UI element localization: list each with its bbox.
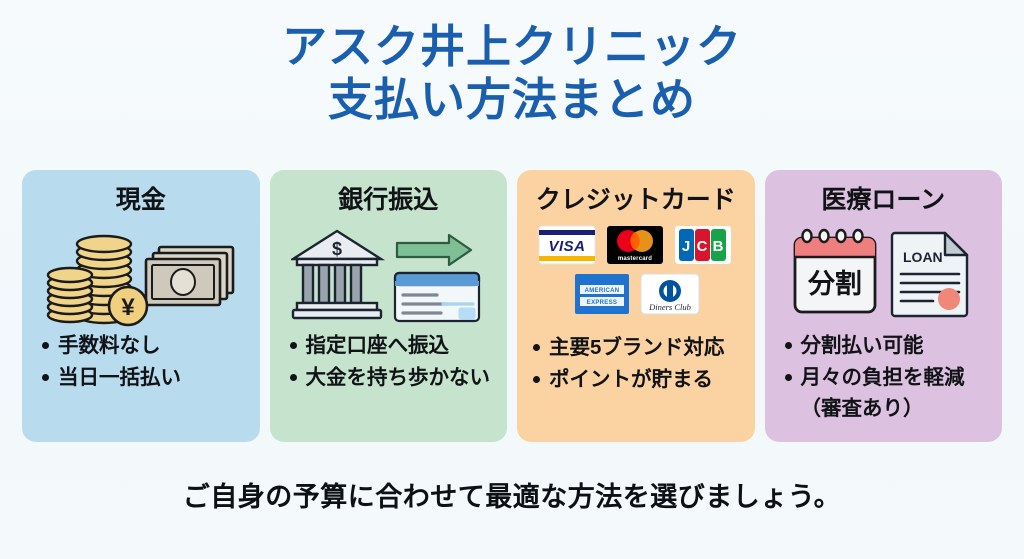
list-item: 指定口座へ振込 <box>284 330 508 362</box>
card-medical-loan-title: 医療ローン <box>821 180 945 216</box>
transfer-arrow-icon <box>397 235 471 265</box>
card-medical-loan[interactable]: 医療ローン <box>765 170 1003 442</box>
title-line-2: 支払い方法まとめ <box>0 73 1024 126</box>
svg-text:Diners Club: Diners Club <box>648 302 691 312</box>
cash-coins-banknotes-icon: ¥ <box>22 220 260 330</box>
calendar-installment-text: 分割 <box>807 269 862 299</box>
footer-note: ご自身の予算に合わせて最適な方法を選びましょう。 <box>0 475 1024 514</box>
installment-calendar-loan-document-icon: 分割 LOAN <box>765 220 1003 330</box>
card-cash[interactable]: 現金 <box>22 170 260 442</box>
bullet-text: 手数料なし <box>58 330 161 362</box>
card-cash-bullets: 手数料なし 当日一括払い <box>22 330 260 394</box>
bullet-dot <box>533 344 540 351</box>
card-credit-card-bullets: 主要5ブランド対応 ポイントが貯まる <box>517 332 755 396</box>
bullet-text: 当日一括払い <box>58 362 181 394</box>
loan-document-text: LOAN <box>903 249 943 265</box>
bullet-dot <box>290 374 297 381</box>
svg-text:B: B <box>713 238 724 255</box>
american-express-logo: AMERICAN EXPRESS <box>575 274 629 314</box>
infographic-page: アスク井上クリニック 支払い方法まとめ 現金 <box>0 0 1024 559</box>
installment-calendar-icon: 分割 <box>795 230 875 312</box>
svg-text:EXPRESS: EXPRESS <box>587 300 617 306</box>
svg-text:AMERICAN: AMERICAN <box>585 288 620 294</box>
card-credit-card[interactable]: クレジットカード VISA <box>517 170 755 442</box>
loan-document-icon: LOAN <box>892 233 967 316</box>
mastercard-logo: mastercard <box>607 226 663 264</box>
title-line-1: アスク井上クリニック <box>0 20 1024 73</box>
card-cash-title: 現金 <box>116 180 166 216</box>
list-item: 当日一括払い <box>36 362 260 394</box>
bullet-subtext: （審査あり） <box>779 394 1003 425</box>
svg-text:C: C <box>697 238 708 255</box>
page-title: アスク井上クリニック 支払い方法まとめ <box>0 20 1024 126</box>
svg-text:mastercard: mastercard <box>618 256 652 262</box>
card-bank-transfer[interactable]: 銀行振込 $ <box>270 170 508 442</box>
jcb-logo: J C B <box>675 226 731 264</box>
list-item: 主要5ブランド対応 <box>527 332 755 364</box>
visa-logo: VISA <box>539 226 595 264</box>
bullet-text: 大金を持ち歩かない <box>306 362 491 394</box>
bullet-text: 指定口座へ振込 <box>306 330 450 362</box>
bullet-text: ポイントが貯まる <box>549 364 713 396</box>
list-item: 手数料なし <box>36 330 260 362</box>
bullet-text: 分割払い可能 <box>801 330 924 362</box>
bullet-dot <box>785 342 792 349</box>
bullet-dot <box>42 342 49 349</box>
bullet-dot <box>785 374 792 381</box>
list-item: 月々の負担を軽減 <box>779 362 1003 394</box>
list-item: ポイントが貯まる <box>527 364 755 396</box>
list-item: 大金を持ち歩かない <box>284 362 508 394</box>
dollar-symbol: $ <box>332 239 342 259</box>
bullet-dot <box>533 376 540 383</box>
bullet-dot <box>42 374 49 381</box>
card-bank-transfer-bullets: 指定口座へ振込 大金を持ち歩かない <box>270 330 508 394</box>
list-item: 分割払い可能 <box>779 330 1003 362</box>
card-credit-card-title: クレジットカード <box>536 180 736 216</box>
bullet-dot <box>290 342 297 349</box>
card-bank-transfer-title: 銀行振込 <box>338 180 438 216</box>
yen-symbol: ¥ <box>121 294 135 321</box>
svg-text:J: J <box>682 238 690 255</box>
bank-transfer-icon: $ <box>270 220 508 330</box>
svg-text:VISA: VISA <box>549 238 586 255</box>
payment-methods-row: 現金 <box>22 170 1002 442</box>
credit-card-brand-logos: VISA mastercard <box>517 220 755 332</box>
diners-club-logo: Diners Club <box>641 274 699 314</box>
bullet-text: 主要5ブランド対応 <box>549 332 724 364</box>
card-medical-loan-bullets: 分割払い可能 月々の負担を軽減 （審査あり） <box>765 330 1003 424</box>
bullet-text: 月々の負担を軽減 <box>801 362 965 394</box>
